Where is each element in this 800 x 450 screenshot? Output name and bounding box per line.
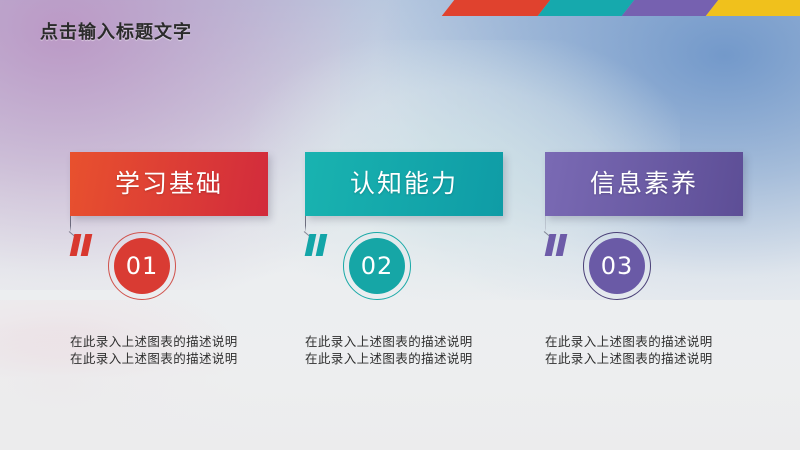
- heading-card-2[interactable]: 认知能力: [305, 152, 503, 216]
- number-badge-01[interactable]: 01: [108, 232, 176, 300]
- description-line: 在此录入上述图表的描述说明: [70, 350, 310, 367]
- heading-card-3[interactable]: 信息素养: [545, 152, 743, 216]
- description-text: 在此录入上述图表的描述说明在此录入上述图表的描述说明: [545, 333, 785, 367]
- description-line: 在此录入上述图表的描述说明: [545, 333, 785, 350]
- quote-bar: [545, 234, 557, 256]
- description-text: 在此录入上述图表的描述说明在此录入上述图表的描述说明: [70, 333, 310, 367]
- quote-bar: [70, 234, 82, 256]
- description-text: 在此录入上述图表的描述说明在此录入上述图表的描述说明: [305, 333, 545, 367]
- description-line: 在此录入上述图表的描述说明: [305, 333, 545, 350]
- description-line: 在此录入上述图表的描述说明: [305, 350, 545, 367]
- heading-label: 信息素养: [545, 152, 743, 216]
- description-line: 在此录入上述图表的描述说明: [70, 333, 310, 350]
- number-badge-02[interactable]: 02: [343, 232, 411, 300]
- number-badge-03[interactable]: 03: [583, 232, 651, 300]
- quote-mark-icon: [307, 234, 331, 256]
- quote-bar: [81, 234, 93, 256]
- heading-label: 学习基础: [70, 152, 268, 216]
- description-line: 在此录入上述图表的描述说明: [545, 350, 785, 367]
- heading-card-1[interactable]: 学习基础: [70, 152, 268, 216]
- quote-bar: [556, 234, 568, 256]
- content-column-1: 学习基础01在此录入上述图表的描述说明在此录入上述图表的描述说明: [70, 0, 330, 450]
- quote-mark-icon: [547, 234, 571, 256]
- heading-label: 认知能力: [305, 152, 503, 216]
- slide-canvas: 点击输入标题文字 学习基础01在此录入上述图表的描述说明在此录入上述图表的描述说…: [0, 0, 800, 450]
- badge-number: 01: [114, 238, 170, 294]
- quote-mark-icon: [72, 234, 96, 256]
- badge-number: 02: [349, 238, 405, 294]
- content-column-2: 认知能力02在此录入上述图表的描述说明在此录入上述图表的描述说明: [305, 0, 565, 450]
- badge-number: 03: [589, 238, 645, 294]
- content-column-3: 信息素养03在此录入上述图表的描述说明在此录入上述图表的描述说明: [545, 0, 800, 450]
- quote-bar: [316, 234, 328, 256]
- quote-bar: [305, 234, 317, 256]
